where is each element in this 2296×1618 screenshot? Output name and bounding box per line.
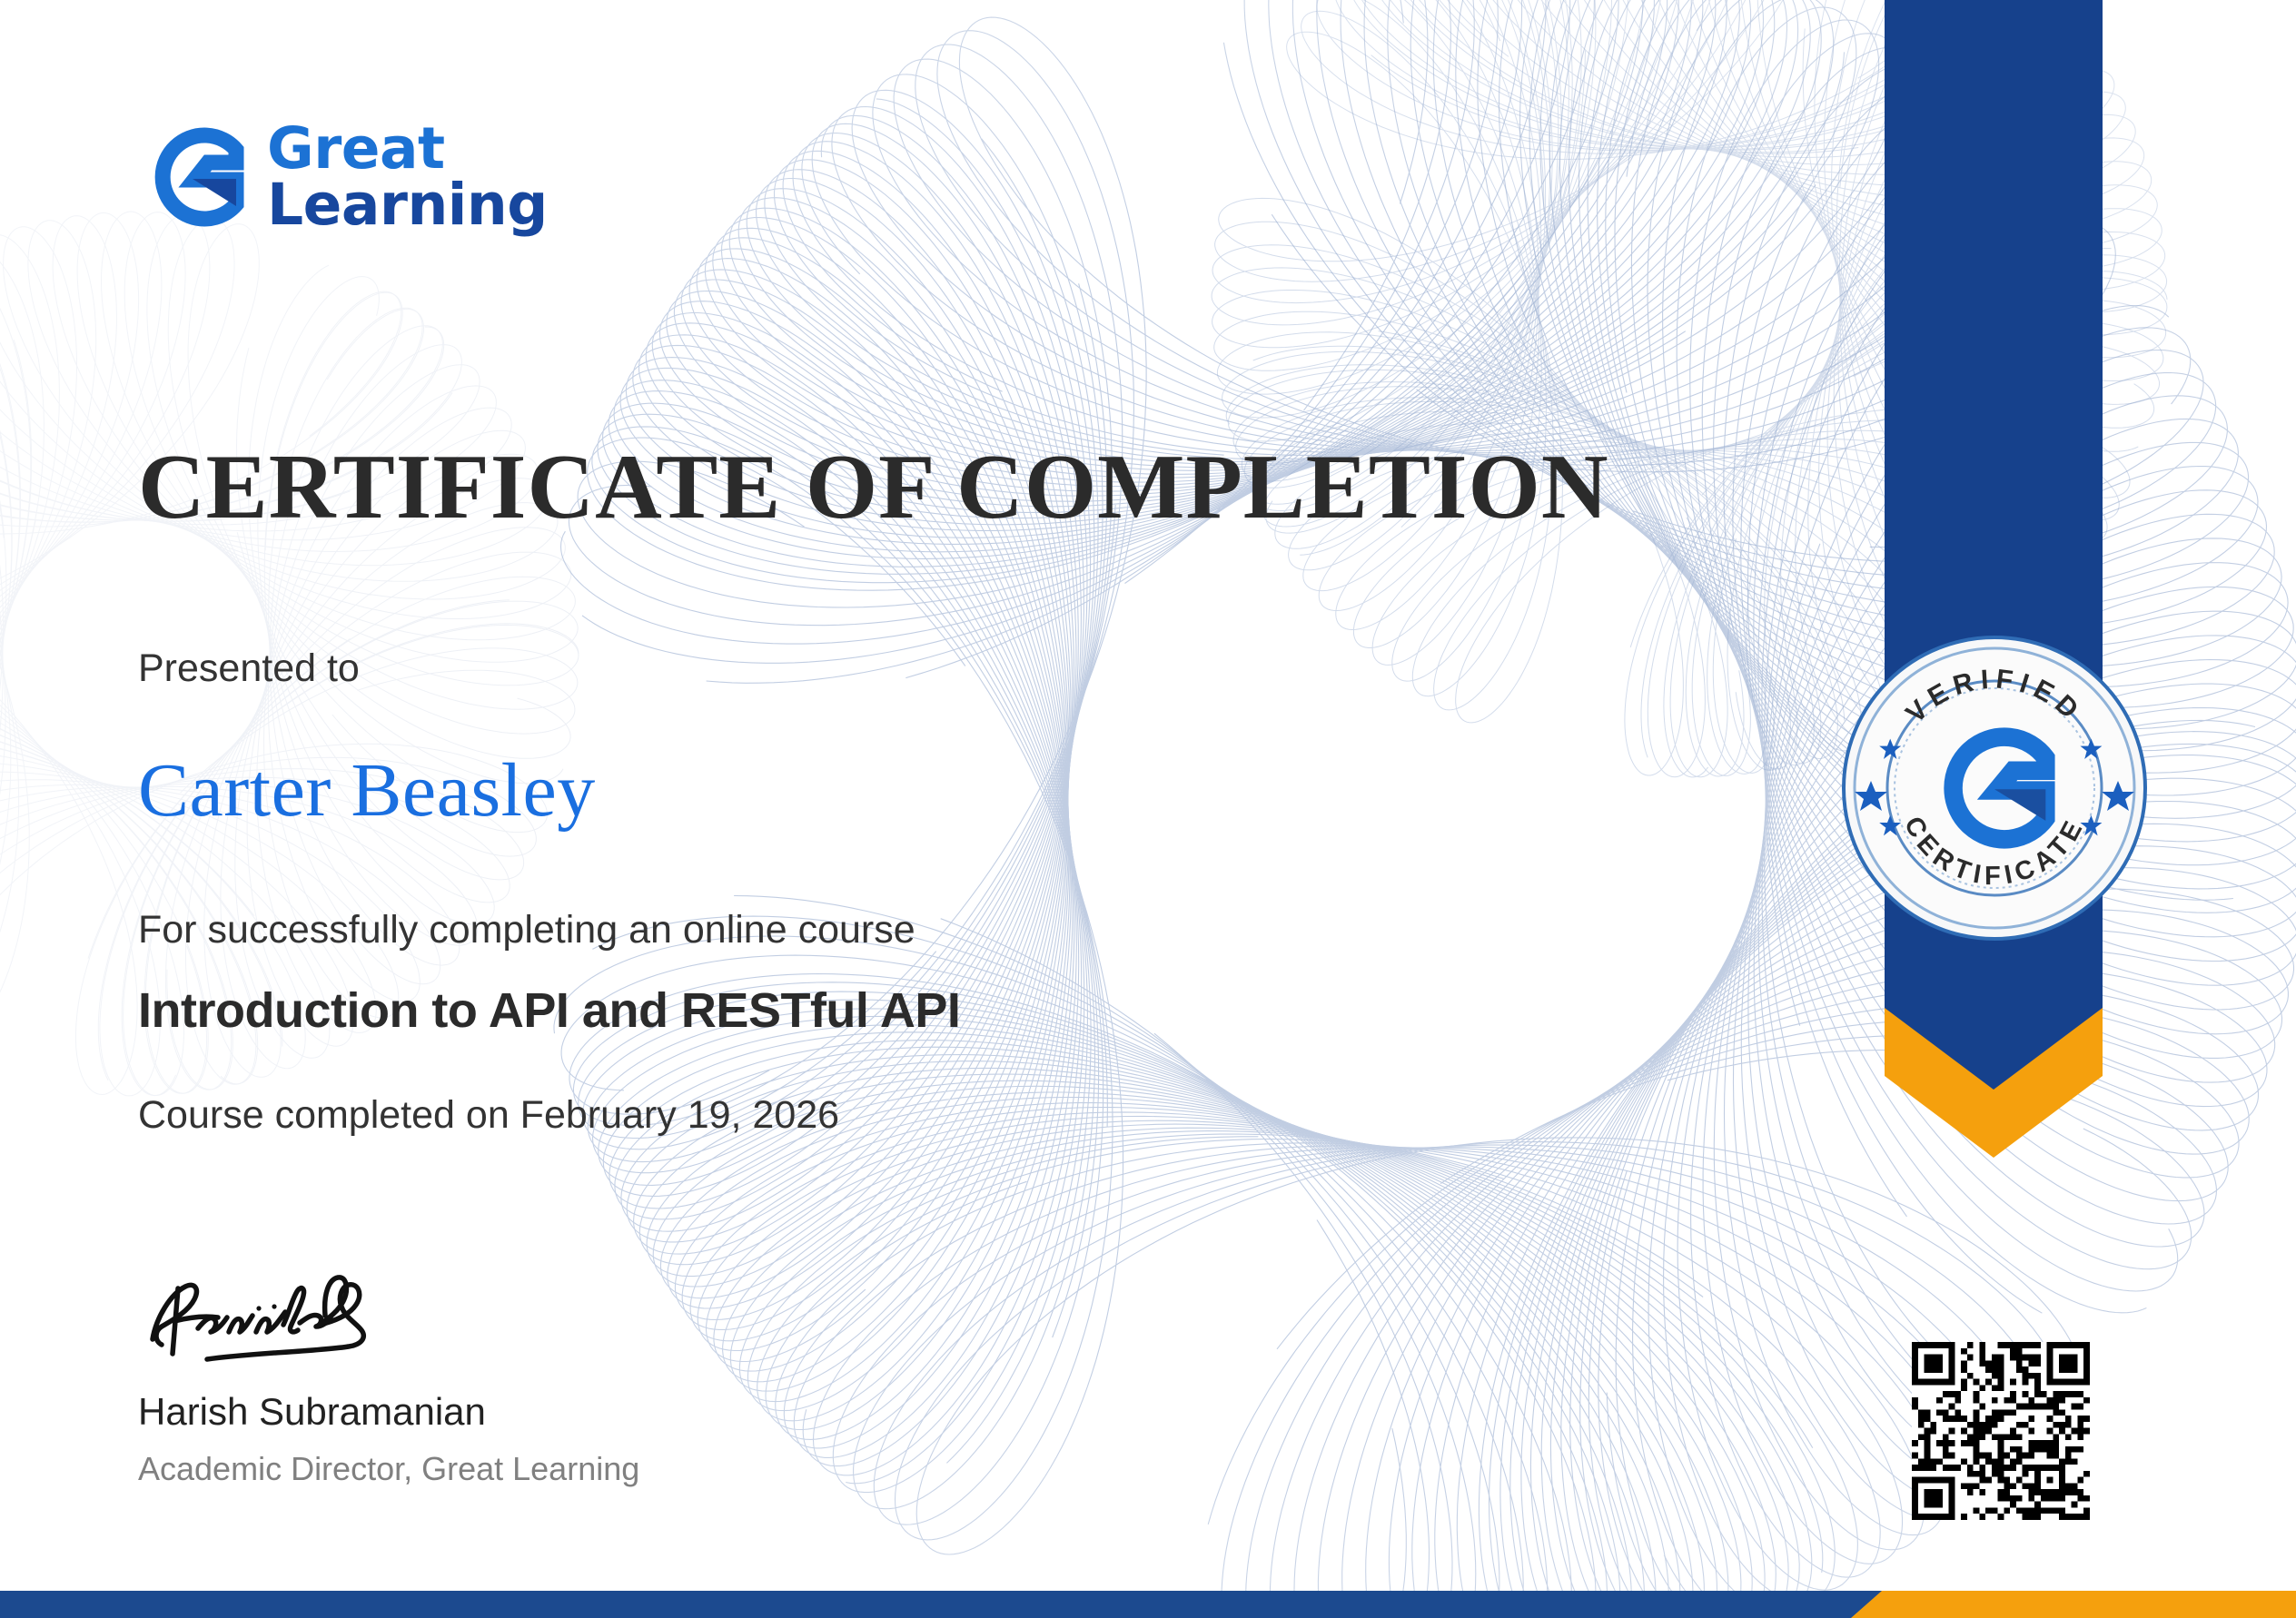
certificate-page: Great Learning CERTIFICATE OF COMPLETION… [0,0,2296,1618]
signature-block: Harish Subramanian Academic Director, Gr… [138,1267,639,1488]
signatory-name: Harish Subramanian [138,1390,639,1434]
signatory-title: Academic Director, Great Learning [138,1450,639,1488]
completion-date: Course completed on February 19, 2026 [138,1093,839,1138]
presented-to-label: Presented to [138,646,360,691]
brand-logo: Great Learning [138,123,548,232]
bottom-accent-bar [0,1591,2296,1618]
signature-icon [138,1267,465,1376]
ribbon-banner [1885,0,2103,1199]
page-title: CERTIFICATE OF COMPLETION [138,434,1609,540]
qr-code[interactable] [1912,1342,2090,1520]
great-learning-g-icon [138,123,247,232]
logo-word-great: Great [267,123,548,175]
logo-word-learning: Learning [267,179,548,232]
course-intro-text: For successfully completing an online co… [138,908,915,952]
verified-certificate-badge: VERIFIED CERTIFICATE [1842,636,2147,941]
recipient-name: Carter Beasley [138,746,596,834]
course-name: Introduction to API and RESTful API [138,982,960,1039]
